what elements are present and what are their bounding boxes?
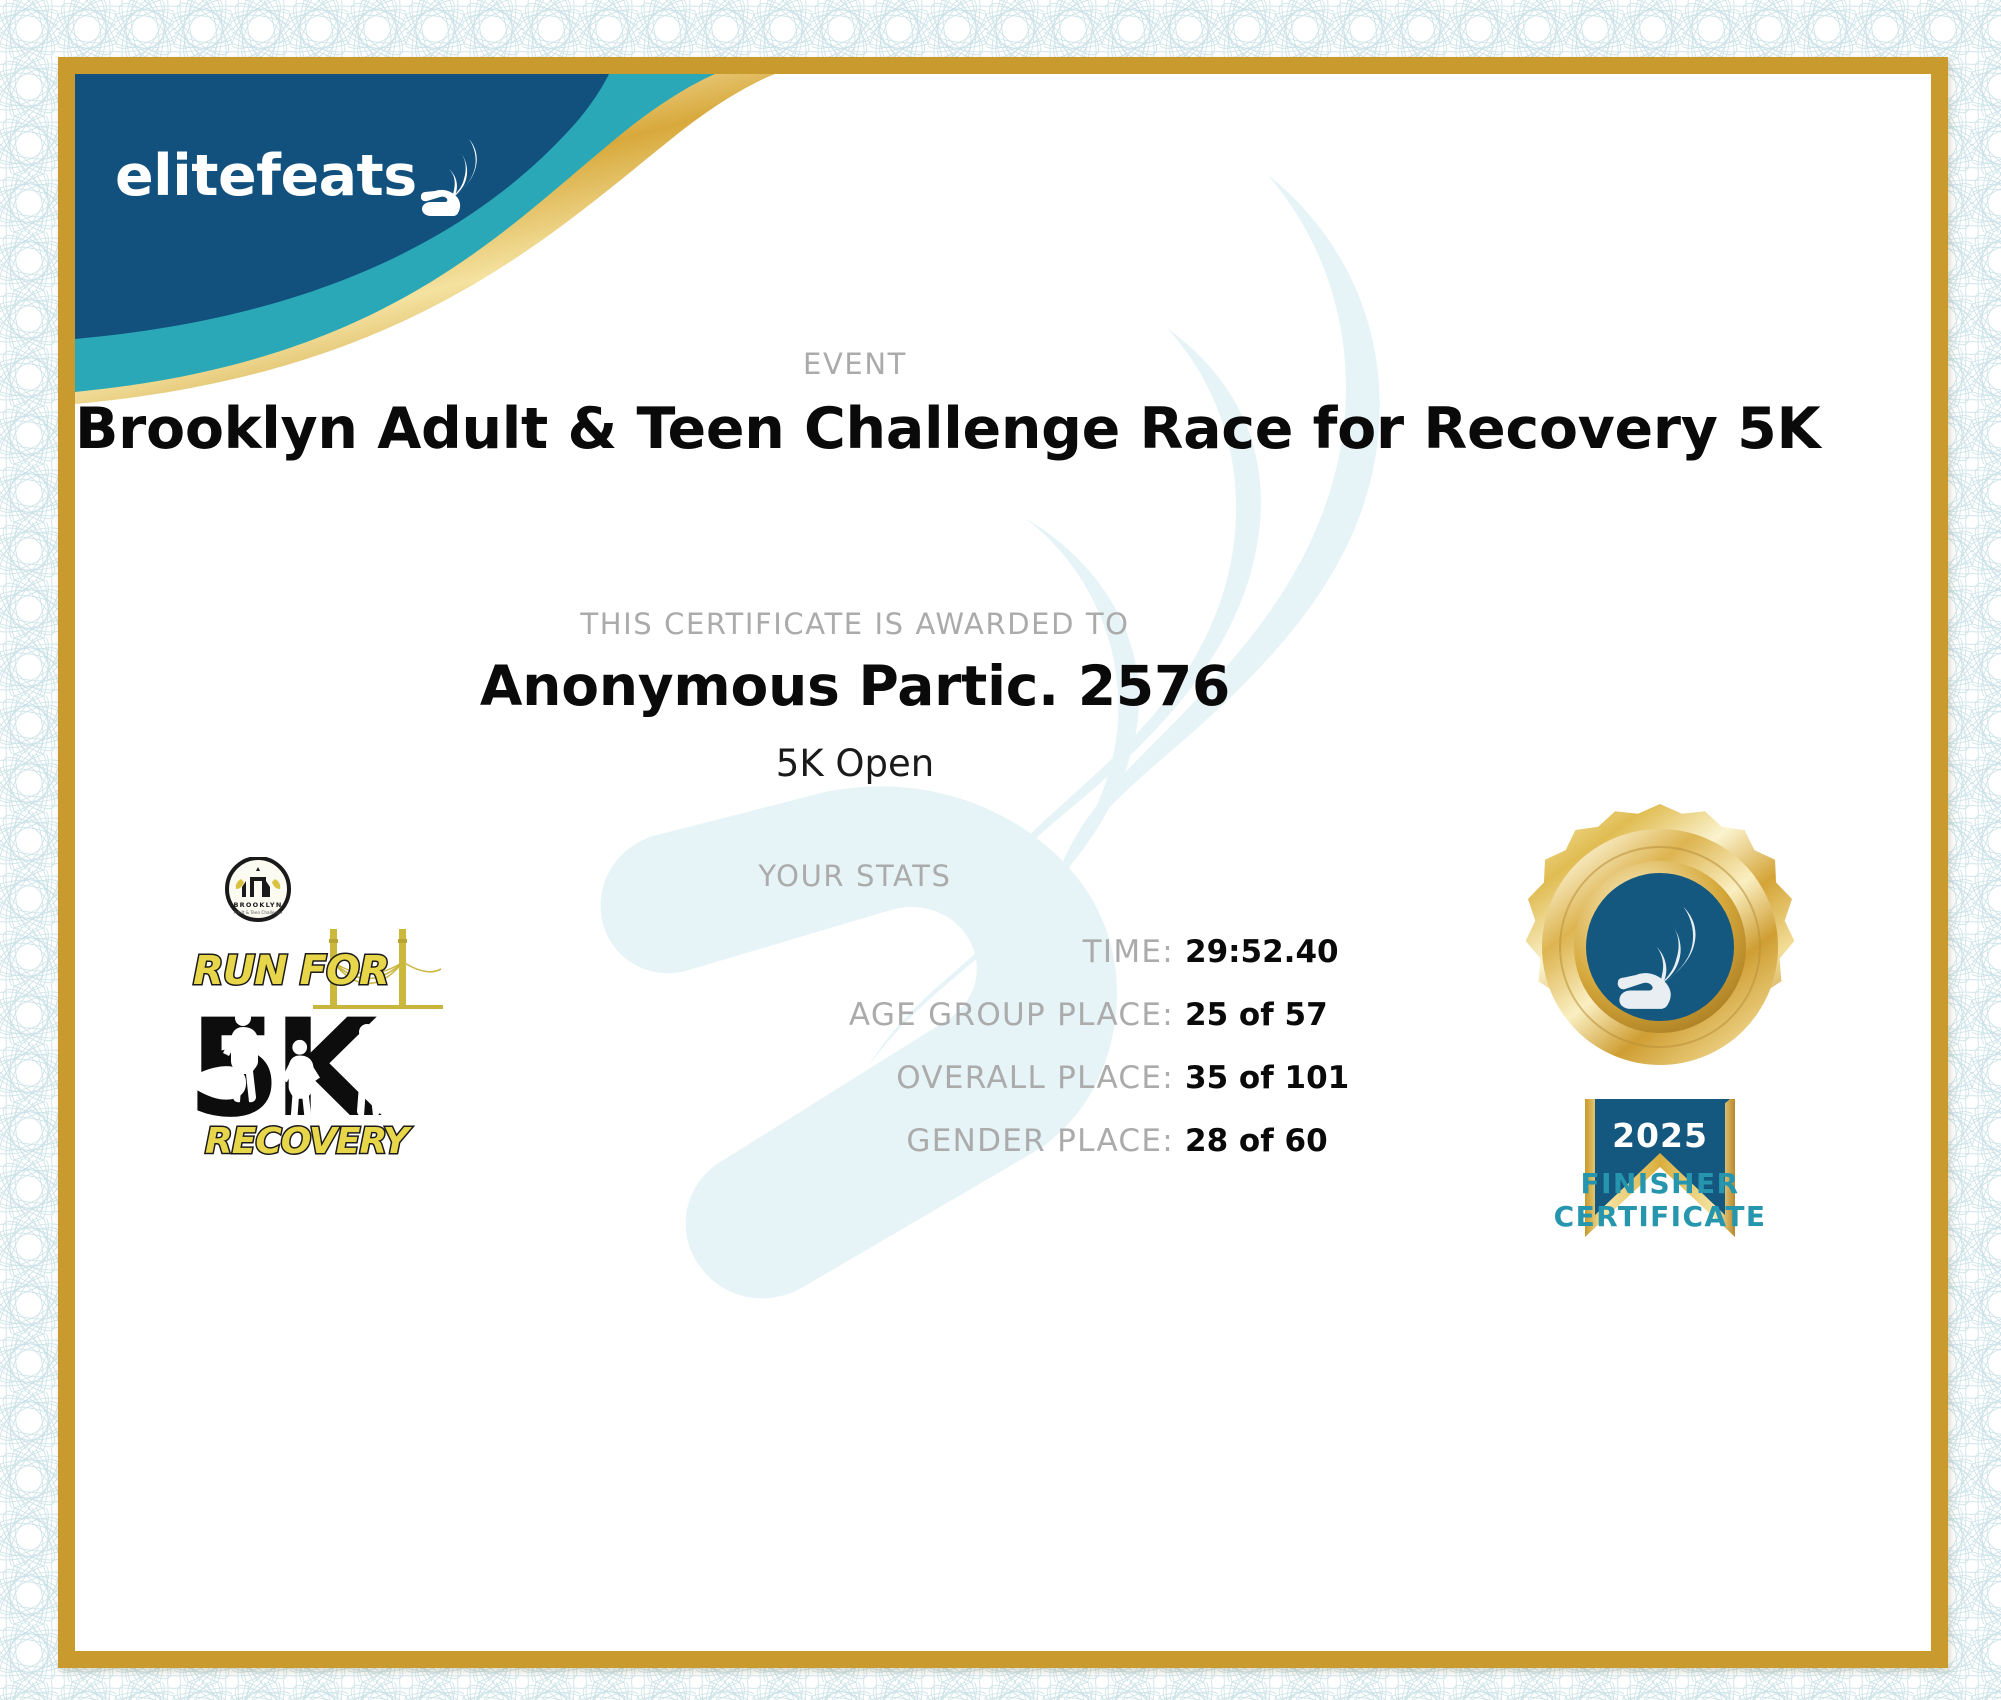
finisher-caption-line1: FINISHER	[1480, 1167, 1840, 1200]
gold-frame-border: elitefeats EVENT Brooklyn Adult & Teen C…	[58, 57, 1948, 1668]
stat-row-time: TIME: 29:52.40	[375, 934, 1375, 997]
division-label: 5K Open	[75, 742, 1635, 785]
awarded-to-label: THIS CERTIFICATE IS AWARDED TO	[75, 607, 1635, 641]
certificate-canvas: elitefeats EVENT Brooklyn Adult & Teen C…	[75, 74, 1931, 1651]
svg-text:BROOKLYN: BROOKLYN	[234, 901, 283, 909]
stat-row-gender-place: GENDER PLACE: 28 of 60	[375, 1123, 1375, 1186]
certificate-content: EVENT Brooklyn Adult & Teen Challenge Ra…	[75, 74, 1931, 1651]
svg-text:RECOVERY: RECOVERY	[205, 1121, 413, 1157]
finisher-certificate-caption: FINISHER CERTIFICATE	[1480, 1167, 1840, 1233]
event-label: EVENT	[75, 347, 1635, 381]
stat-value-overall-place: 35 of 101	[1185, 1060, 1375, 1096]
stat-value-age-group-place: 25 of 57	[1185, 997, 1375, 1033]
certificate-page: elitefeats EVENT Brooklyn Adult & Teen C…	[0, 0, 2001, 1700]
stat-key-overall-place: OVERALL PLACE:	[896, 1060, 1174, 1096]
finisher-caption-line2: CERTIFICATE	[1480, 1200, 1840, 1233]
event-title: Brooklyn Adult & Teen Challenge Race for…	[75, 396, 1635, 462]
svg-text:Adult & Teen Challenge: Adult & Teen Challenge	[234, 910, 283, 915]
recipient-name: Anonymous Partic. 2576	[75, 654, 1635, 718]
stat-row-age-group-place: AGE GROUP PLACE: 25 of 57	[375, 997, 1375, 1060]
stat-key-time: TIME:	[1083, 934, 1174, 970]
race-event-logo: BROOKLYN Adult & Teen Challenge	[183, 857, 443, 1157]
medal-year: 2025	[1612, 1116, 1708, 1155]
stat-row-overall-place: OVERALL PLACE: 35 of 101	[375, 1060, 1375, 1123]
stat-key-age-group-place: AGE GROUP PLACE:	[849, 997, 1174, 1033]
stats-list: TIME: 29:52.40 AGE GROUP PLACE: 25 of 57…	[375, 934, 1375, 1186]
stat-value-time: 29:52.40	[1185, 934, 1375, 970]
stat-value-gender-place: 28 of 60	[1185, 1123, 1375, 1159]
stat-key-gender-place: GENDER PLACE:	[906, 1123, 1174, 1159]
svg-text:RUN FOR: RUN FOR	[193, 948, 389, 994]
